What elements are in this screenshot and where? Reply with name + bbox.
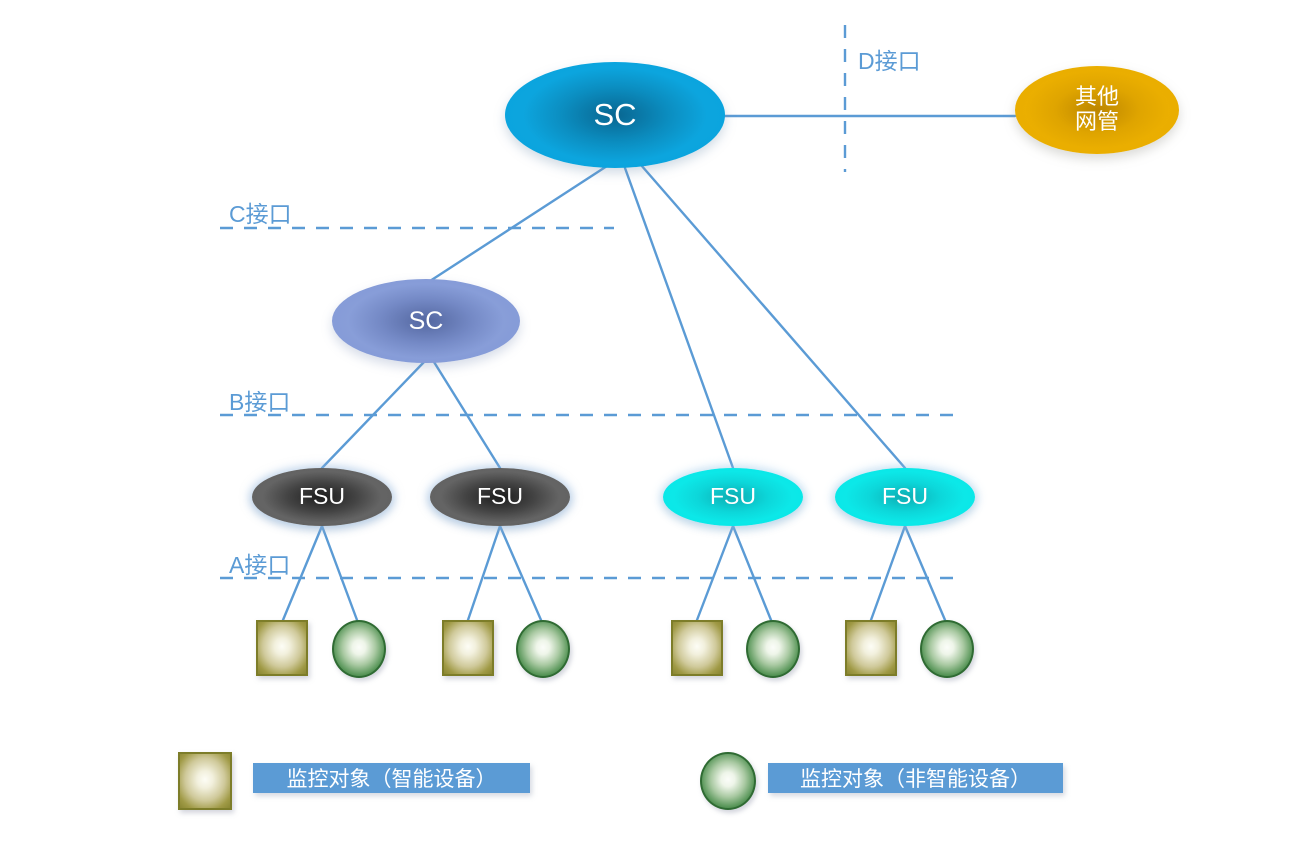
interface-label-b: B接口 (229, 383, 290, 417)
edge-sc-top-to-sc-mid (430, 166, 607, 281)
edge-fsu-2-to-circle-2 (500, 526, 541, 620)
device-circle-1[interactable] (332, 620, 386, 678)
node-sc-mid[interactable]: SC (332, 279, 520, 363)
node-fsu-3[interactable]: FSU (663, 468, 803, 526)
legend-label-smart-device: 监控对象（智能设备） (253, 763, 530, 793)
node-fsu-2[interactable]: FSU (430, 468, 570, 526)
edge-sc-top-to-fsu-3 (625, 168, 733, 468)
device-square-1[interactable] (256, 620, 308, 676)
device-square-4[interactable] (845, 620, 897, 676)
device-circle-3[interactable] (746, 620, 800, 678)
node-other-nms[interactable]: 其他 网管 (1015, 66, 1179, 154)
edge-fsu-2-to-square-2 (468, 526, 500, 620)
diagram-canvas: D接口 C接口 B接口 A接口 SC 其他 网管 SC FSU FSU FSU … (0, 0, 1300, 842)
edge-fsu-4-to-square-4 (871, 526, 905, 620)
interface-label-d: D接口 (858, 42, 921, 76)
edge-fsu-1-to-circle-1 (322, 526, 357, 620)
device-square-2[interactable] (442, 620, 494, 676)
edge-fsu-4-to-circle-4 (905, 526, 945, 620)
legend-circle-icon (700, 752, 756, 810)
interface-label-c: C接口 (229, 195, 292, 229)
node-sc-top[interactable]: SC (505, 62, 725, 168)
edge-sc-mid-to-fsu-2 (434, 362, 500, 468)
node-sc-mid-label: SC (409, 307, 444, 335)
edge-fsu-3-to-square-3 (697, 526, 733, 620)
node-fsu-3-label: FSU (710, 484, 756, 510)
node-fsu-2-label: FSU (477, 484, 523, 510)
node-fsu-1-label: FSU (299, 484, 345, 510)
node-other-nms-label: 其他 网管 (1075, 85, 1119, 134)
edge-sc-top-to-fsu-4 (641, 165, 905, 468)
device-square-3[interactable] (671, 620, 723, 676)
legend-label-non-smart-device: 监控对象（非智能设备） (768, 763, 1063, 793)
device-circle-2[interactable] (516, 620, 570, 678)
node-fsu-4[interactable]: FSU (835, 468, 975, 526)
interface-label-a: A接口 (229, 546, 290, 580)
legend-square-icon (178, 752, 232, 810)
edge-fsu-3-to-circle-3 (733, 526, 771, 620)
node-sc-top-label: SC (593, 98, 636, 133)
node-fsu-1[interactable]: FSU (252, 468, 392, 526)
node-fsu-4-label: FSU (882, 484, 928, 510)
edge-sc-mid-to-fsu-1 (322, 362, 424, 468)
device-circle-4[interactable] (920, 620, 974, 678)
